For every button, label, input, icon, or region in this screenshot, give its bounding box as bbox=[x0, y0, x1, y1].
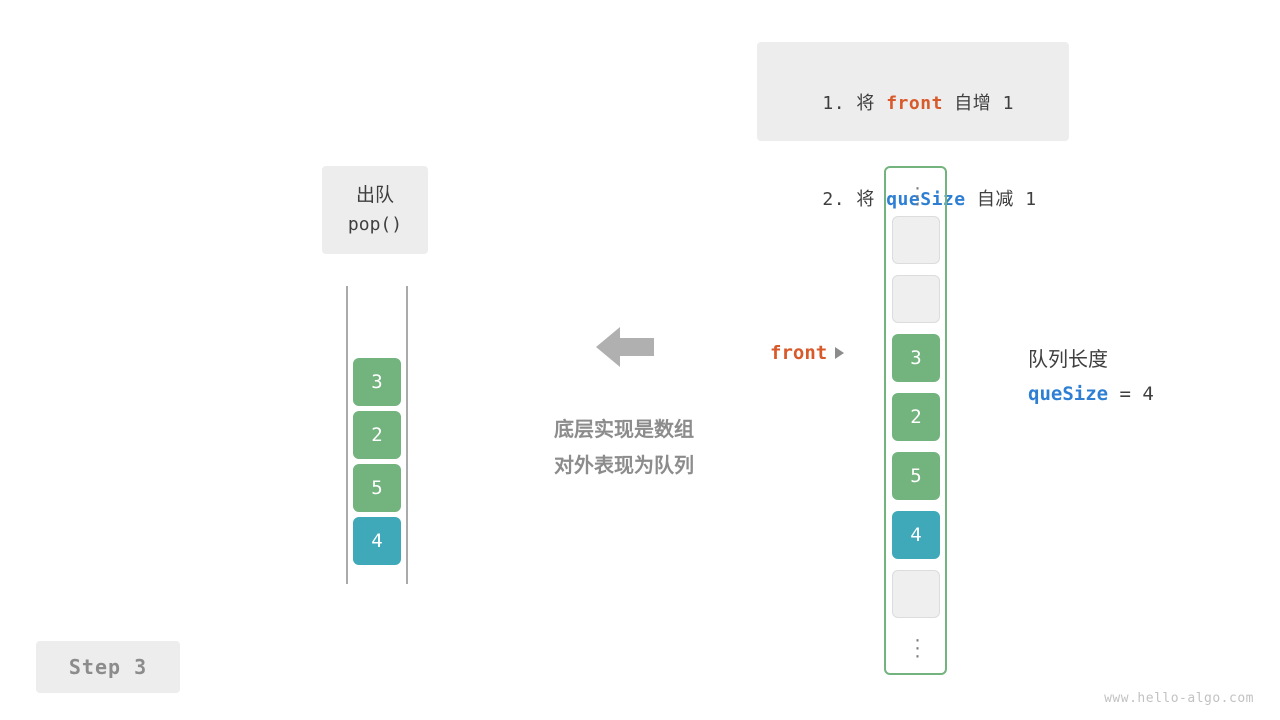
queue-size-expression: queSize = 4 bbox=[1028, 377, 1248, 411]
pop-label-method: pop() bbox=[348, 210, 402, 239]
list-item: 3 bbox=[892, 334, 940, 382]
queue-size-value: 4 bbox=[1142, 383, 1153, 405]
list-item: 2 bbox=[892, 393, 940, 441]
right-cell-value-2: 3 bbox=[910, 347, 921, 369]
instruction-line-1-code: front bbox=[886, 93, 943, 114]
left-arrow-icon bbox=[596, 325, 654, 369]
triangle-right-icon bbox=[835, 347, 844, 359]
list-item: 4 bbox=[892, 511, 940, 559]
instruction-box: 1. 将 front 自增 1 2. 将 queSize 自减 1 bbox=[757, 42, 1069, 141]
list-item: 4 bbox=[353, 517, 401, 565]
list-item bbox=[892, 216, 940, 264]
right-cell-value-3: 2 bbox=[910, 406, 921, 428]
middle-caption-line-2: 对外表现为队列 bbox=[500, 448, 748, 484]
list-item bbox=[892, 275, 940, 323]
pop-label-title: 出队 bbox=[356, 181, 394, 210]
instruction-line-2-suffix: 自减 1 bbox=[966, 189, 1037, 210]
queue-size-title: 队列长度 bbox=[1028, 343, 1248, 377]
right-cell-value-5: 4 bbox=[910, 524, 921, 546]
middle-caption: 底层实现是数组 对外表现为队列 bbox=[500, 412, 748, 484]
left-cell-value-1: 2 bbox=[371, 424, 382, 446]
middle-caption-line-1: 底层实现是数组 bbox=[500, 412, 748, 448]
left-cell-value-2: 5 bbox=[371, 477, 382, 499]
instruction-line-2-prefix: 2. 将 bbox=[822, 189, 886, 210]
instruction-line-1: 1. 将 front 自增 1 bbox=[777, 56, 1049, 152]
left-cell-value-0: 3 bbox=[371, 371, 382, 393]
list-item: 2 bbox=[353, 411, 401, 459]
instruction-line-1-suffix: 自增 1 bbox=[943, 93, 1014, 114]
list-item: 5 bbox=[353, 464, 401, 512]
list-item bbox=[892, 570, 940, 618]
queue-size-var: queSize bbox=[1028, 383, 1108, 405]
pop-operation-label: 出队 pop() bbox=[322, 166, 428, 254]
left-queue-container: 3 2 5 4 bbox=[346, 286, 408, 584]
list-item: 3 bbox=[353, 358, 401, 406]
left-cell-value-3: 4 bbox=[371, 530, 382, 552]
queue-size-equals: = bbox=[1108, 383, 1142, 405]
vertical-ellipsis-icon-top: ··· bbox=[886, 184, 949, 208]
front-pointer-label: front bbox=[770, 342, 827, 364]
step-badge-label: Step 3 bbox=[69, 655, 147, 679]
right-array-container: ··· 3 2 5 4 ··· bbox=[884, 166, 947, 675]
right-cell-value-4: 5 bbox=[910, 465, 921, 487]
vertical-ellipsis-icon-bottom: ··· bbox=[886, 636, 949, 660]
instruction-line-1-prefix: 1. 将 bbox=[822, 93, 886, 114]
list-item: 5 bbox=[892, 452, 940, 500]
watermark: www.hello-algo.com bbox=[1104, 691, 1254, 706]
queue-size-label: 队列长度 queSize = 4 bbox=[1028, 343, 1248, 411]
front-pointer: front bbox=[770, 342, 844, 364]
status-badge: Step 3 bbox=[36, 641, 180, 693]
